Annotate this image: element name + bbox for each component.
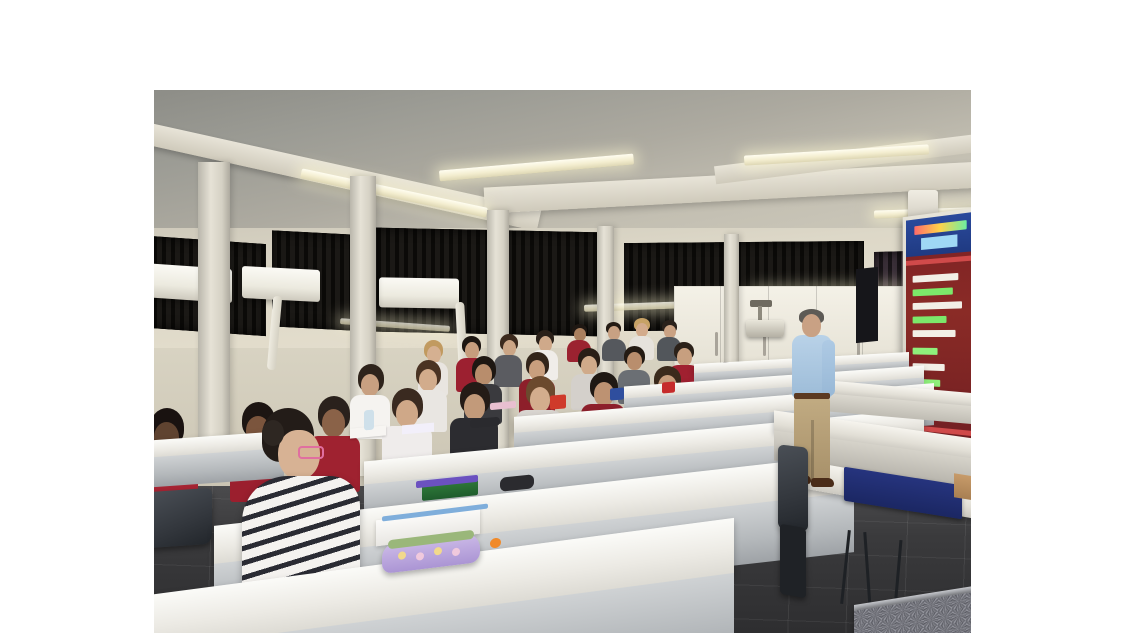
column bbox=[198, 162, 230, 462]
chair bbox=[780, 524, 806, 599]
projector-icon bbox=[746, 320, 784, 337]
instructor-head bbox=[802, 314, 821, 337]
chair bbox=[778, 444, 808, 531]
classroom-photo bbox=[154, 90, 971, 633]
glasses-icon bbox=[298, 446, 324, 459]
red-cup bbox=[662, 381, 675, 393]
wall-panel bbox=[856, 267, 878, 343]
slide-page: Laboratório de Odontologia Pediátrica e … bbox=[0, 0, 1125, 633]
slide-header bbox=[906, 211, 971, 257]
water-bottle bbox=[364, 410, 374, 431]
blue-cup bbox=[610, 387, 624, 400]
red-cup bbox=[550, 394, 566, 409]
chair bbox=[154, 488, 212, 549]
hair-bun bbox=[262, 420, 284, 446]
air-conditioner bbox=[379, 277, 459, 308]
